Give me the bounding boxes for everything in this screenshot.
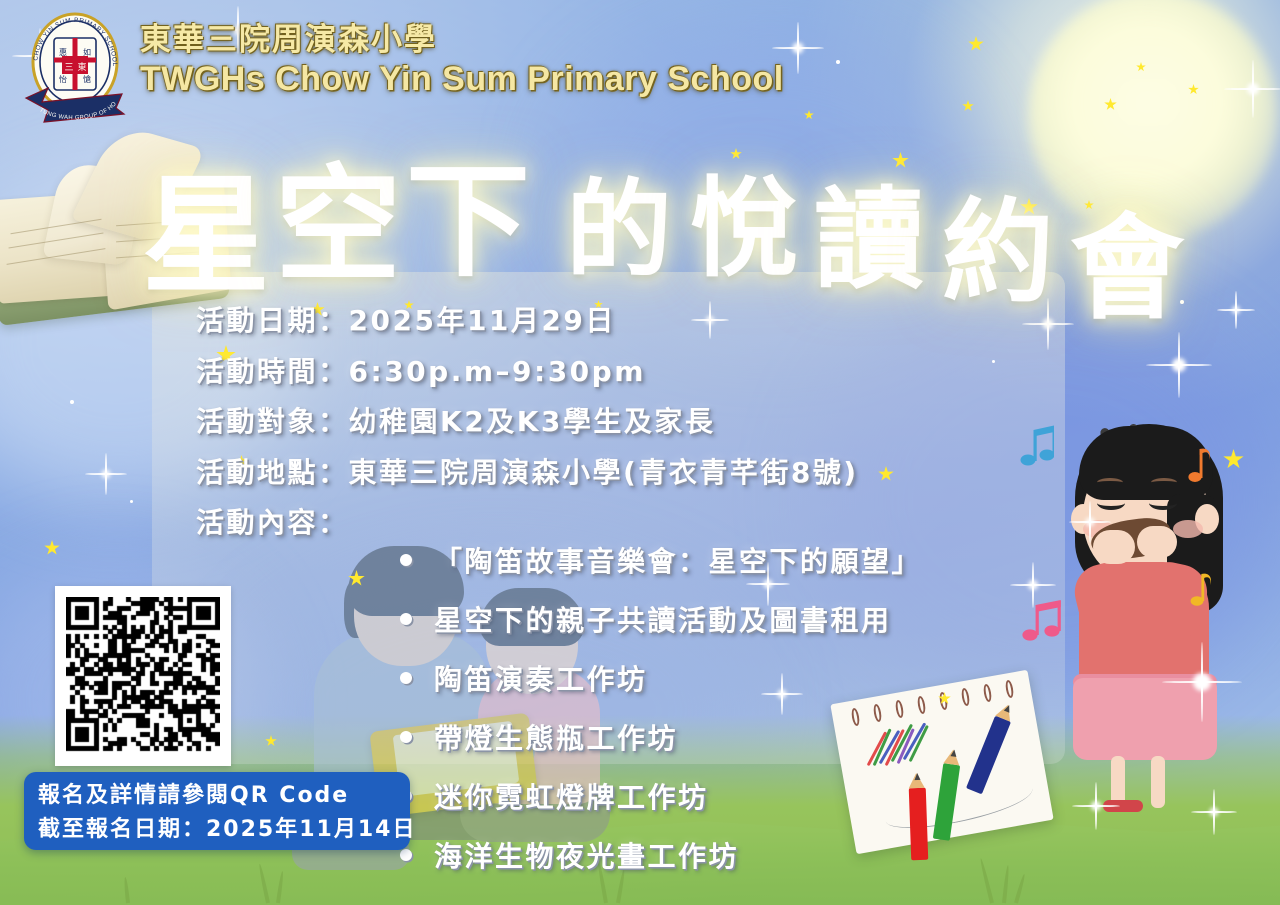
detail-value-venue: 東華三院周演森小學(青衣青芊街8號) [349,452,859,495]
programme-item-1: 「陶笛故事音樂會：星空下的願望」 [434,540,922,580]
moon-illustration [1028,0,1278,240]
sparkle-icon [1144,330,1214,400]
event-details: 活動日期： 2025年11月29日 活動時間： 6:30p.m–9:30pm 活… [196,300,1066,553]
bullet-icon [400,672,412,684]
star-icon [968,36,984,52]
svg-text:怡: 怡 [59,74,67,84]
school-logo: CHOW YIN SUM PRIMARY SCHOOL 惠 如 怡 愴 三 東 … [18,10,132,132]
star-icon [962,100,974,112]
programme-list: 「陶笛故事音樂會：星空下的願望」 星空下的親子共讀活動及圖書租用 陶笛演奏工作坊… [400,530,922,884]
list-item: 迷你霓虹燈牌工作坊 [400,766,922,825]
music-note-icon [1188,444,1216,484]
girl-playing-ocarina-illustration [1055,412,1245,812]
banner-line-1: 報名及詳情請參閱QR Code [38,779,396,813]
sparkle-icon [84,452,128,496]
detail-label-date: 活動日期： [196,300,349,343]
detail-label-venue: 活動地點： [196,452,349,495]
star-icon [892,152,909,169]
detail-value-time: 6:30p.m–9:30pm [349,351,646,394]
svg-text:愴: 愴 [83,74,91,84]
star-icon [44,540,60,556]
detail-row-time: 活動時間： 6:30p.m–9:30pm [196,351,1066,394]
list-item: 陶笛演奏工作坊 [400,648,922,707]
bullet-icon [400,849,412,861]
banner-line-2: 截至報名日期：2025年11月14日 [38,813,396,847]
star-dot [1180,300,1184,304]
detail-row-audience: 活動對象： 幼稚園K2及K3學生及家長 [196,401,1066,444]
programme-item-4: 帶燈生態瓶工作坊 [434,717,678,757]
music-note-icon [1190,570,1216,608]
open-book-illustration [0,118,246,323]
star-dot [836,60,840,64]
svg-text:東: 東 [77,61,86,73]
list-item: 「陶笛故事音樂會：星空下的願望」 [400,530,922,589]
school-name-zh: 東華三院周演森小學 [140,22,784,59]
list-item: 星空下的親子共讀活動及圖書租用 [400,589,922,648]
star-dot [770,252,773,255]
sparkle-icon [1216,290,1256,330]
detail-label-audience: 活動對象： [196,401,349,444]
list-item: 帶燈生態瓶工作坊 [400,707,922,766]
detail-label-content: 活動內容： [196,502,349,545]
star-dot [130,500,133,503]
programme-item-5: 迷你霓虹燈牌工作坊 [434,776,709,816]
star-icon [804,110,814,120]
detail-row-venue: 活動地點： 東華三院周演森小學(青衣青芊街8號) [196,452,1066,495]
list-item: 海洋生物夜光畫工作坊 [400,825,922,884]
bullet-icon [400,554,412,566]
programme-item-6: 海洋生物夜光畫工作坊 [434,835,739,875]
school-name-block: 東華三院周演森小學 TWGHs Chow Yin Sum Primary Sch… [140,22,784,98]
svg-text:三: 三 [64,63,73,73]
qr-code-image [66,597,220,755]
detail-label-time: 活動時間： [196,351,349,394]
bullet-icon [400,731,412,743]
star-icon [730,148,742,160]
svg-text:如: 如 [83,47,91,57]
detail-value-audience: 幼稚園K2及K3學生及家長 [349,401,716,444]
programme-item-2: 星空下的親子共讀活動及圖書租用 [434,599,892,639]
poster-canvas: CHOW YIN SUM PRIMARY SCHOOL 惠 如 怡 愴 三 東 … [0,0,1280,905]
bullet-icon [400,613,412,625]
svg-text:惠: 惠 [59,47,67,57]
school-name-en: TWGHs Chow Yin Sum Primary School [140,61,784,98]
registration-banner: 報名及詳情請參閱QR Code 截至報名日期：2025年11月14日 [24,772,410,850]
programme-item-3: 陶笛演奏工作坊 [434,658,648,698]
music-note-icon [1022,600,1062,644]
detail-value-date: 2025年11月29日 [349,300,616,343]
star-dot [884,230,888,234]
star-icon [1020,198,1038,216]
star-dot [70,400,74,404]
detail-row-date: 活動日期： 2025年11月29日 [196,300,1066,343]
qr-code[interactable] [55,586,231,766]
